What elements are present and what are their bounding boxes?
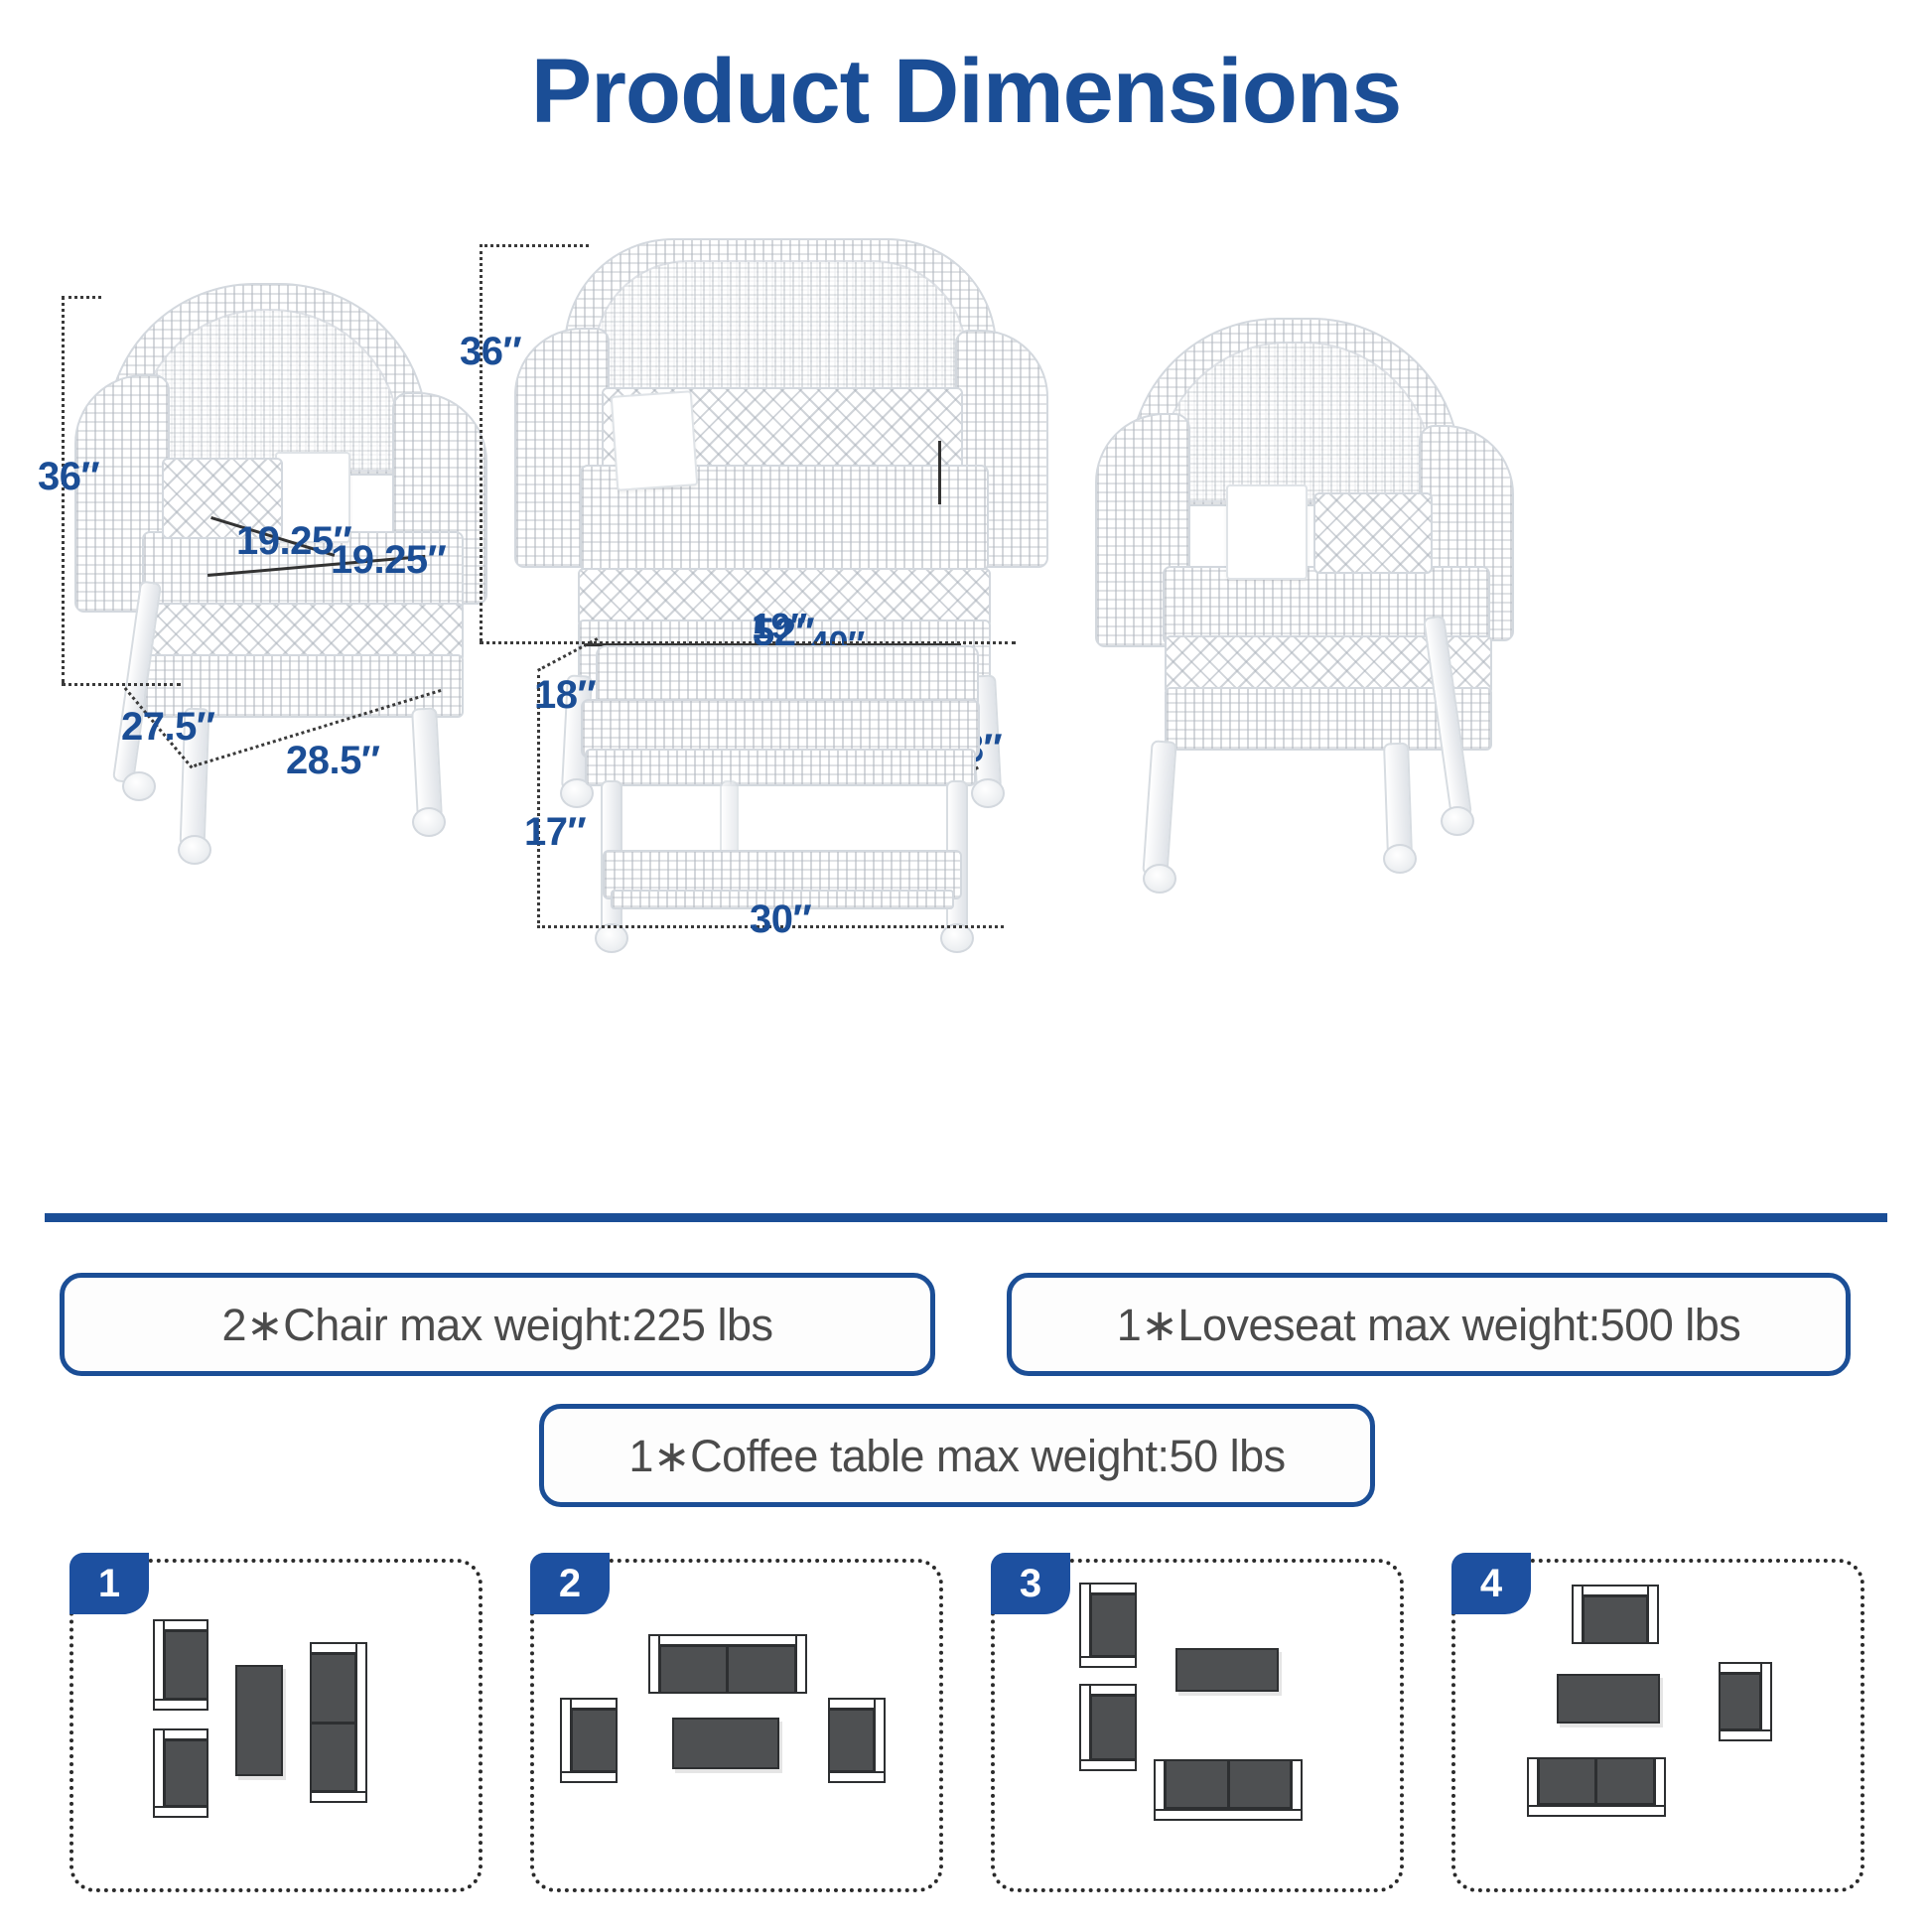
loveseat-icon [310, 1642, 367, 1803]
coffee-table-width-label: 30″ [750, 897, 811, 942]
weight-capacity-chair: 2∗Chair max weight:225 lbs [60, 1273, 935, 1376]
chair-depth-bottom-extension [62, 683, 181, 686]
panel-number-badge-4: 4 [1451, 1553, 1531, 1614]
page-title: Product Dimensions [0, 42, 1932, 142]
layout-panel-4: 4 [1451, 1559, 1864, 1892]
panel-number-badge-2: 2 [530, 1553, 610, 1614]
chair-height-top-tick [62, 296, 101, 299]
layout-panel-1: 1 [69, 1559, 483, 1892]
chair-illustration-right [1087, 318, 1514, 834]
loveseat-icon [648, 1634, 807, 1694]
chair-depth-label: 27.5″ [121, 705, 215, 750]
section-divider [45, 1213, 1887, 1222]
layout-panel-2: 2 [530, 1559, 943, 1892]
product-dimensions-infographic: Product Dimensions [0, 0, 1932, 1932]
loveseat-icon [1527, 1757, 1666, 1817]
chair-icon [828, 1698, 886, 1783]
layout-panel-3: 3 [991, 1559, 1404, 1892]
loveseat-height-extension-line [480, 244, 483, 641]
coffee-table-height-label: 18″ [534, 673, 596, 718]
loveseat-seat-height-line [938, 441, 941, 504]
chair-icon [1719, 1662, 1772, 1741]
chair-icon [1079, 1583, 1137, 1668]
chair-icon [1572, 1585, 1659, 1644]
chair-icon [1079, 1684, 1137, 1771]
chair-icon [560, 1698, 618, 1783]
weight-capacity-loveseat: 1∗Loveseat max weight:500 lbs [1007, 1273, 1851, 1376]
coffee-table-icon [1557, 1674, 1660, 1724]
coffee-table-shelf-height-label: 17″ [524, 810, 586, 855]
chair-icon [153, 1619, 208, 1711]
chair-icon [153, 1728, 208, 1818]
loveseat-height-label: 36″ [460, 330, 521, 374]
panel-number-badge-1: 1 [69, 1553, 149, 1614]
weight-capacity-coffee-table: 1∗Coffee table max weight:50 lbs [539, 1404, 1375, 1507]
chair-height-label: 36″ [38, 455, 99, 499]
chair-width-label: 28.5″ [286, 739, 380, 783]
panel-number-badge-3: 3 [991, 1553, 1070, 1614]
coffee-table-icon [1175, 1648, 1279, 1692]
loveseat-width-bottom-line [480, 641, 1016, 644]
dimension-diagram-area: 36″ 19.25″ 19.25″ 27.5″ 28.5″ [0, 179, 1932, 1181]
coffee-table-icon [672, 1718, 779, 1769]
loveseat-icon [1154, 1759, 1303, 1821]
loveseat-height-top-extension [480, 244, 589, 247]
coffee-table-icon [235, 1665, 283, 1776]
chair-seat-width-label: 19.25″ [331, 538, 446, 583]
